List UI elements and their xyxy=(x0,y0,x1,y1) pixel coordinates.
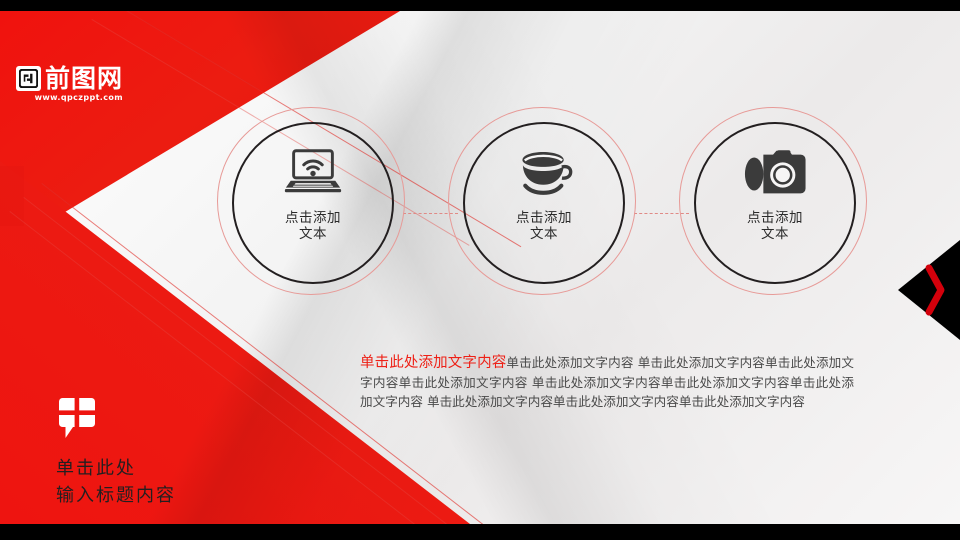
title-line-2: 输入标题内容 xyxy=(56,482,176,509)
logo-url: www.qpczppt.com xyxy=(35,93,123,102)
slide-canvas: 前图网 www.qpczppt.com xyxy=(0,0,960,540)
bottom-letterbox-bar xyxy=(0,524,960,540)
node-inner-ring: 点击添加 文本 xyxy=(232,122,394,284)
seal-logo-icon xyxy=(16,66,41,91)
node-label-1-line2: 文本 xyxy=(285,226,341,242)
logo-row: 前图网 xyxy=(16,66,123,91)
top-letterbox-bar xyxy=(0,0,960,11)
coffee-cup-icon xyxy=(509,144,579,204)
slide-content-area: 前图网 www.qpczppt.com xyxy=(0,11,960,524)
speech-bubble-quad-icon xyxy=(56,397,98,441)
node-label-2-line2: 文本 xyxy=(516,226,572,242)
camera-icon xyxy=(740,144,810,204)
body-paragraph[interactable]: 单击此处添加文字内容单击此处添加文字内容 单击此处添加文字内容单击此处添加文字内… xyxy=(360,353,854,411)
icon-node-group: 点击添加 文本 xyxy=(0,105,960,325)
node-label-3-line1: 点击添加 xyxy=(747,210,803,226)
title-text: 单击此处 输入标题内容 xyxy=(56,455,176,509)
laptop-wifi-icon xyxy=(278,144,348,204)
logo-wordmark: 前图网 xyxy=(45,66,123,91)
title-line-1: 单击此处 xyxy=(56,455,176,482)
body-highlight-text: 单击此处添加文字内容 xyxy=(360,355,506,371)
icon-node-3[interactable]: 点击添加 文本 xyxy=(677,105,873,301)
right-arrow-decoration xyxy=(898,240,960,340)
node-inner-ring: 点击添加 文本 xyxy=(463,122,625,284)
node-label-2-line1: 点击添加 xyxy=(516,210,572,226)
icon-node-2[interactable]: 点击添加 文本 xyxy=(446,105,642,301)
node-label-2: 点击添加 文本 xyxy=(516,210,572,242)
node-label-1-line1: 点击添加 xyxy=(285,210,341,226)
icon-node-1[interactable]: 点击添加 文本 xyxy=(215,105,411,301)
title-block[interactable]: 单击此处 输入标题内容 xyxy=(56,397,176,509)
node-label-3: 点击添加 文本 xyxy=(747,210,803,242)
node-label-1: 点击添加 文本 xyxy=(285,210,341,242)
brand-logo[interactable]: 前图网 www.qpczppt.com xyxy=(16,66,123,102)
node-label-3-line2: 文本 xyxy=(747,226,803,242)
node-inner-ring: 点击添加 文本 xyxy=(694,122,856,284)
